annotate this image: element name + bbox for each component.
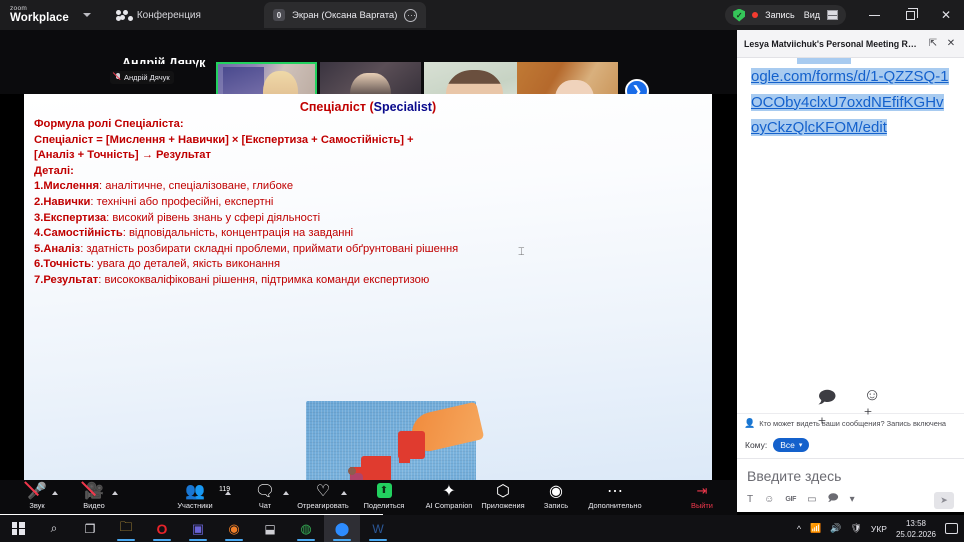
audio-options-chevron-icon[interactable] [52, 491, 58, 495]
conference-tab[interactable]: Конференция [115, 9, 201, 22]
windows-taskbar: ⌕ ❐ 🗀 O ▣ ◉ ⬓ ◍ ⬤ W ^ 📶 🔊 🛡 УКР 13:58 25… [0, 515, 964, 542]
chat-header: Lesya Matviichuk's Personal Meeting Room… [737, 30, 964, 58]
item-rest: : висококваліфіковані рішення, підтримка… [98, 274, 429, 286]
video-off-icon: 🎥 [84, 483, 104, 498]
share-screen-icon: ⬆ [377, 483, 392, 498]
window-controls-group: Запись Вид ✕ [725, 0, 964, 30]
toolbar-audio-button[interactable]: 🎤 Звук [10, 483, 64, 510]
toolbar-record-button[interactable]: ◉ Запись [529, 483, 583, 510]
detail-item: 5.Аналіз: здатність розбирати складні пр… [34, 242, 704, 258]
toolbar-chat-button[interactable]: 🗨 Чат [238, 483, 292, 510]
toolbar-ai-companion-button[interactable]: ✦ AI Companion [417, 483, 481, 510]
chevron-down-icon: ▾ [799, 441, 803, 449]
security-icon[interactable]: 🛡 [850, 523, 861, 534]
participants-icon: 👥119 [185, 483, 205, 498]
chat-reaction-row: 🗩⁺ ☺⁺ [737, 379, 964, 413]
record-label: Запись [765, 10, 795, 20]
detail-item: 3.Експертиза: високий рівень знань у сфе… [34, 211, 704, 227]
toolbar-leave-button[interactable]: ⇥ Выйти [675, 483, 729, 510]
chevron-down-icon[interactable] [83, 13, 91, 17]
store-icon[interactable]: ⬓ [252, 515, 288, 542]
participants-options-chevron-icon[interactable] [225, 491, 231, 495]
item-head: Аналіз [43, 243, 80, 255]
slide-title-en: Specialist [374, 100, 432, 114]
item-num: 6. [34, 258, 43, 270]
sparkle-icon: ✦ [442, 483, 455, 498]
toolbar-label: Отреагировать [297, 501, 349, 510]
slide-illustration [306, 401, 476, 480]
close-button[interactable]: ✕ [928, 0, 964, 30]
slide-title-close: ) [432, 100, 436, 114]
recipient-select[interactable]: Все ▾ [773, 438, 809, 452]
item-num: 3. [34, 212, 43, 224]
shared-screen-stage: Спеціаліст (Specialist) Формула ролі Спе… [0, 94, 737, 480]
foxit-icon[interactable]: ▣ [180, 515, 216, 542]
item-num: 1. [34, 180, 43, 192]
puzzle-piece-icon [361, 456, 391, 480]
item-head: Самостійність [43, 227, 122, 239]
word-icon[interactable]: W [360, 515, 396, 542]
toolbar-apps-button[interactable]: ⬡ Приложения [476, 483, 530, 510]
view-label: Вид [804, 10, 820, 20]
toolbar-label: Звук [29, 501, 44, 510]
mic-off-icon: 🎤 [27, 483, 47, 498]
toolbar-label: Участники [177, 501, 212, 510]
chevron-up-icon[interactable]: ^ [797, 524, 801, 534]
minimize-icon [869, 15, 880, 16]
chat-panel: Lesya Matviichuk's Personal Meeting Room… [737, 30, 964, 512]
privacy-text: Кто может видеть ваши сообщения? Запись … [759, 419, 946, 428]
wifi-icon[interactable]: 📶 [810, 523, 821, 534]
item-rest: : увага до деталей, якість виконання [91, 258, 280, 270]
task-view-icon[interactable]: ❐ [72, 515, 108, 542]
item-rest: : відповідальність, концентрація на завд… [123, 227, 353, 239]
chat-icon: 🗨 [255, 483, 275, 498]
leave-icon: ⇥ [697, 483, 708, 498]
person-head [348, 467, 356, 475]
toolbar-share-button[interactable]: ⬆ Поделиться [357, 483, 411, 510]
participant-name: Андрій Дячук [124, 73, 170, 82]
item-rest: : аналітичне, спеціалізоване, глибоке [99, 180, 293, 192]
item-rest: : здатність розбирати складні проблеми, … [80, 243, 458, 255]
file-icon[interactable]: ▭ [807, 494, 816, 505]
zoom-logo: zoom Workplace [10, 6, 69, 24]
formula-heading: Формула ролі Спеціаліста: [34, 117, 704, 133]
chat-messages-scroll[interactable]: ogle.com/forms/d/1-QZZSQ-1OCOby4clxU7oxd… [737, 58, 964, 379]
video-tile[interactable]: Андрій Дячук [108, 64, 196, 86]
layout-icon[interactable] [827, 10, 838, 20]
clock-time: 13:58 [896, 518, 936, 529]
title-bar: zoom Workplace Конференция 0 Экран (Окса… [0, 0, 964, 30]
detail-item: 6.Точність: увага до деталей, якість вик… [34, 257, 704, 273]
screenshot-icon[interactable]: 🗩 [828, 491, 839, 508]
zoom-icon[interactable]: ⬤ [324, 515, 360, 542]
chat-compose-toolbar: T ☺ GIF ▭ 🗩 ▾ ➤ [747, 491, 954, 508]
chat-recipient-row: Кому: Все ▾ [737, 433, 964, 458]
clock-date: 25.02.2026 [896, 529, 936, 540]
opera-icon[interactable]: O [144, 515, 180, 542]
chat-options-chevron-icon[interactable] [283, 491, 289, 495]
video-options-chevron-icon[interactable] [112, 491, 118, 495]
more-icon[interactable]: ▾ [850, 494, 855, 505]
maximize-button[interactable] [892, 0, 928, 30]
recipient-label: Кому: [745, 440, 767, 450]
maximize-icon [906, 11, 915, 20]
detail-item: 4.Самостійність: відповідальність, конце… [34, 226, 704, 242]
item-head: Мислення [43, 180, 99, 192]
detail-item: 1.Мислення: аналітичне, спеціалізоване, … [34, 179, 704, 195]
slide-title: Спеціаліст (Specialist) [24, 100, 712, 114]
slide-title-ua: Спеціаліст ( [300, 100, 374, 114]
volume-icon[interactable]: 🔊 [830, 523, 841, 534]
firefox-icon[interactable]: ◉ [216, 515, 252, 542]
item-rest: : технічні або професійні, експертні [90, 196, 273, 208]
item-num: 5. [34, 243, 43, 255]
people-icon [115, 9, 130, 22]
chat-privacy-notice[interactable]: 👤 Кто может видеть ваши сообщения? Запис… [737, 413, 964, 433]
record-icon: ◉ [549, 483, 563, 498]
chat-input[interactable]: Введите здесь [747, 468, 954, 484]
close-icon[interactable]: ✕ [945, 38, 957, 50]
item-head: Точність [43, 258, 91, 270]
toolbar-label: Запись [544, 501, 568, 510]
chat-scrollbar-track[interactable] [956, 58, 962, 379]
share-tab-label: Экран (Оксана Варгата) [292, 10, 397, 21]
item-num: 4. [34, 227, 43, 239]
chat-compose-area[interactable]: Введите здесь T ☺ GIF ▭ 🗩 ▾ ➤ [737, 458, 964, 512]
apps-icon: ⬡ [496, 483, 510, 498]
message-highlight-continuation [797, 58, 851, 64]
clock[interactable]: 13:58 25.02.2026 [896, 518, 936, 540]
notifications-icon[interactable] [945, 523, 958, 534]
toolbar-label: Выйти [691, 501, 713, 510]
record-dot-icon [752, 12, 758, 18]
item-num: 2. [34, 196, 43, 208]
search-icon[interactable]: ⌕ [36, 515, 72, 542]
toolbar-label: Видео [83, 501, 105, 510]
reactions-options-chevron-icon[interactable] [341, 491, 347, 495]
puzzle-piece-icon [398, 431, 425, 459]
system-tray: ^ 📶 🔊 🛡 УКР 13:58 25.02.2026 [797, 515, 964, 542]
brand-line-2: Workplace [10, 13, 69, 25]
minimize-button[interactable] [856, 0, 892, 30]
item-head: Результат [43, 274, 98, 286]
item-rest: : високий рівень знань у сфері діяльност… [106, 212, 320, 224]
conference-label: Конференция [137, 10, 201, 21]
formula-line-1: Спеціаліст = [Мислення + Навички] × [Екс… [34, 133, 704, 149]
popout-icon[interactable]: ⇱ [927, 38, 939, 50]
recipient-value: Все [780, 440, 795, 450]
format-text-icon[interactable]: T [747, 494, 753, 505]
shield-icon [733, 9, 745, 22]
more-options-icon[interactable] [404, 9, 417, 22]
emoji-icon[interactable]: ☺ [764, 494, 774, 505]
chrome-icon[interactable]: ◍ [288, 515, 324, 542]
start-glyph [12, 522, 25, 535]
windows-start-icon[interactable] [0, 515, 36, 542]
formula-line-2: [Аналіз + Точність] → Результат [34, 148, 704, 164]
meeting-toolbar: 🎤 Звук 🎥 Видео 👥119 Участники 🗨 Чат ♡ От… [0, 480, 737, 515]
recording-status-pill[interactable]: Запись Вид [725, 5, 846, 25]
language-indicator[interactable]: УКР [871, 524, 887, 534]
toolbar-reactions-button[interactable]: ♡ Отреагировать [296, 483, 350, 510]
item-head: Навички [43, 196, 90, 208]
toolbar-label: AI Companion [426, 501, 473, 510]
more-dots-icon: ⋯ [607, 483, 623, 498]
toolbar-label: Приложения [481, 501, 524, 510]
presentation-slide: Спеціаліст (Specialist) Формула ролі Спе… [24, 94, 712, 480]
text-cursor-icon: ⌶ [518, 246, 525, 257]
share-badge: 0 [273, 9, 285, 21]
detail-item: 7.Результат: висококваліфіковані рішення… [34, 273, 704, 289]
video-filmstrip: Андрій Дячук Андрій Дячук Оксана Варгата… [0, 30, 737, 94]
chat-message-link[interactable]: ogle.com/forms/d/1-QZZSQ-1OCOby4clxU7oxd… [751, 68, 949, 136]
mic-off-icon [114, 73, 121, 82]
details-heading: Деталі: [34, 164, 704, 180]
screen-share-tab[interactable]: 0 Экран (Оксана Варгата) [264, 2, 426, 28]
toolbar-label: Поделиться [364, 501, 405, 510]
explorer-icon[interactable]: 🗀 [108, 515, 144, 542]
toolbar-label: Дополнительно [588, 501, 641, 510]
detail-item: 2.Навички: технічні або професійні, експ… [34, 195, 704, 211]
item-num: 7. [34, 274, 43, 286]
zoom-meeting-window: zoom Workplace Конференция 0 Экран (Окса… [0, 0, 964, 542]
participant-name-bar: Андрій Дячук [110, 71, 174, 84]
add-reaction-icon[interactable]: ☺⁺ [864, 385, 884, 405]
gif-icon[interactable]: GIF [785, 496, 796, 503]
toolbar-label: Чат [259, 501, 271, 510]
slide-body: Формула ролі Спеціаліста: Спеціаліст = [… [24, 114, 712, 289]
chat-title: Lesya Matviichuk's Personal Meeting Room [744, 39, 921, 49]
send-icon[interactable]: ➤ [934, 492, 954, 509]
toolbar-more-button[interactable]: ⋯ Дополнительно [582, 483, 648, 510]
item-head: Експертиза [43, 212, 106, 224]
heart-icon: ♡ [316, 483, 330, 498]
privacy-person-icon: 👤 [744, 418, 755, 429]
toolbar-participants-button[interactable]: 👥119 Участники [168, 483, 222, 510]
add-comment-icon[interactable]: 🗩⁺ [818, 385, 838, 405]
toolbar-video-button[interactable]: 🎥 Видео [67, 483, 121, 510]
